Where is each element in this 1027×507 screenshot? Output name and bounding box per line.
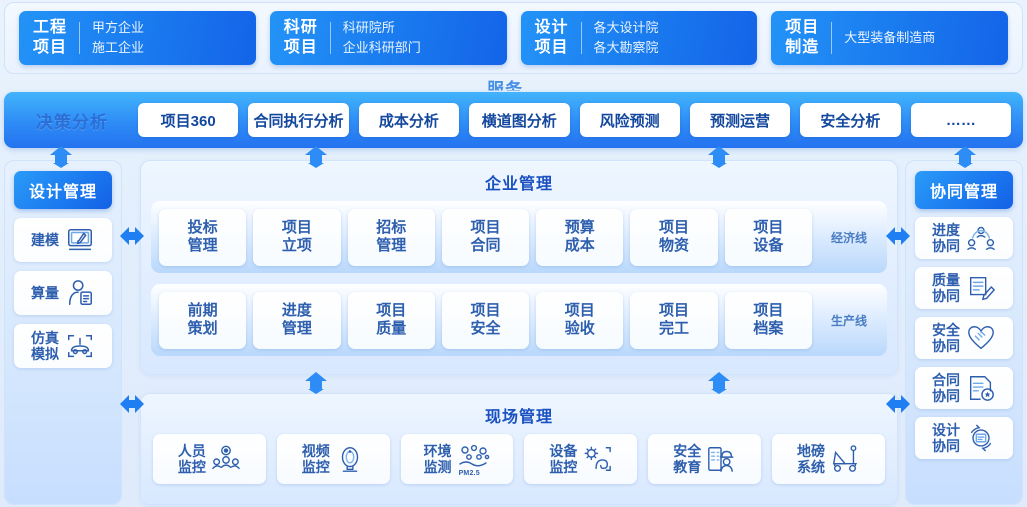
economic-line-tag: 经济线 — [819, 229, 879, 246]
economic-line-row: 投标 管理 项目 立项 招标 管理 项目 合同 预算 成本 项目 物资 项目 设… — [151, 201, 887, 273]
enterprise-cell-project-equipment[interactable]: 项目 设备 — [725, 209, 812, 266]
enterprise-cell-project-archive[interactable]: 项目 档案 — [725, 292, 812, 349]
enterprise-cell-bid-management[interactable]: 投标 管理 — [159, 209, 246, 266]
site-cell-video-monitor[interactable]: 视频 监控 — [277, 434, 390, 484]
design-collab-icon — [966, 423, 996, 453]
collab-item-safety[interactable]: 安全 协同 — [915, 317, 1013, 359]
enterprise-cell-progress-management[interactable]: 进度 管理 — [253, 292, 340, 349]
design-item-simulation[interactable]: 仿真 模拟 — [14, 324, 112, 368]
safety-education-icon — [706, 444, 736, 474]
collab-item-contract[interactable]: 合同 协同 — [915, 367, 1013, 409]
decision-button-safety-analysis[interactable]: 安全分析 — [800, 103, 900, 137]
collaboration-management-header[interactable]: 协同管理 — [915, 171, 1013, 209]
enterprise-cell-budget-cost[interactable]: 预算 成本 — [536, 209, 623, 266]
video-monitor-icon — [335, 444, 365, 474]
design-management-header[interactable]: 设计管理 — [14, 171, 112, 209]
divider — [79, 22, 80, 54]
site-cell-equipment-monitor[interactable]: 设备 监控 — [524, 434, 637, 484]
quality-collab-icon — [966, 273, 996, 303]
decision-button-cost-analysis[interactable]: 成本分析 — [359, 103, 459, 137]
collab-item-progress[interactable]: 进度 协同 — [915, 217, 1013, 259]
divider — [330, 22, 331, 54]
quantity-icon — [65, 278, 95, 308]
collab-item-label: 设计 协同 — [932, 422, 960, 454]
source-card-title: 科研 项目 — [284, 18, 330, 58]
arrow-down-enterprise-left — [303, 372, 329, 394]
decision-button-forecast-operation[interactable]: 预测运营 — [690, 103, 790, 137]
divider — [831, 22, 832, 54]
arrow-right-design-to-site — [120, 392, 144, 416]
people-monitor-icon — [211, 444, 241, 474]
progress-collab-icon — [966, 223, 996, 253]
design-item-label: 建模 — [31, 232, 59, 248]
site-cell-weighbridge[interactable]: 地磅 系统 — [772, 434, 885, 484]
enterprise-management-title: 企业管理 — [141, 161, 897, 201]
enterprise-cell-project-initiation[interactable]: 项目 立项 — [253, 209, 340, 266]
source-card-research[interactable]: 科研 项目 科研院所 企业科研部门 — [270, 11, 507, 65]
source-card-title: 项目 制造 — [785, 18, 831, 58]
collab-item-label: 进度 协同 — [932, 222, 960, 254]
simulation-icon — [65, 331, 95, 361]
enterprise-cell-pre-planning[interactable]: 前期 策划 — [159, 292, 246, 349]
enterprise-cell-tender-management[interactable]: 招标 管理 — [348, 209, 435, 266]
arrow-right-site-to-collab — [886, 392, 910, 416]
production-line-tag: 生产线 — [819, 312, 879, 329]
arrow-up-center-right — [706, 146, 732, 168]
safety-collab-icon — [966, 323, 996, 353]
decision-analysis-bar: 决策分析 项目360 合同执行分析 成本分析 横道图分析 风险预测 预测运营 安… — [4, 92, 1023, 148]
collab-item-label: 安全 协同 — [932, 322, 960, 354]
enterprise-cell-project-contract[interactable]: 项目 合同 — [442, 209, 529, 266]
design-item-quantity[interactable]: 算量 — [14, 271, 112, 315]
decision-button-project360[interactable]: 项目360 — [138, 103, 238, 137]
contract-collab-icon — [966, 373, 996, 403]
site-items-row: 人员 监控 视频 监控 — [153, 434, 885, 484]
source-card-subtitle: 科研院所 企业科研部门 — [343, 18, 421, 58]
site-management-panel: 现场管理 人员 监控 视频 监控 — [140, 393, 898, 505]
production-line-row: 前期 策划 进度 管理 项目 质量 项目 安全 项目 验收 项目 完工 项目 档… — [151, 284, 887, 356]
enterprise-cell-project-quality[interactable]: 项目 质量 — [348, 292, 435, 349]
arrow-right-design-to-enterprise — [120, 224, 144, 248]
design-item-modeling[interactable]: 建模 — [14, 218, 112, 262]
enterprise-cell-project-materials[interactable]: 项目 物资 — [630, 209, 717, 266]
equipment-monitor-icon — [582, 444, 612, 474]
arrow-right-enterprise-to-collab — [886, 224, 910, 248]
collab-item-design[interactable]: 设计 协同 — [915, 417, 1013, 459]
decision-button-gantt-analysis[interactable]: 横道图分析 — [469, 103, 569, 137]
site-cell-label: 安全 教育 — [673, 443, 701, 475]
enterprise-cell-project-completion[interactable]: 项目 完工 — [630, 292, 717, 349]
arrow-up-left — [48, 146, 74, 168]
divider — [581, 22, 582, 54]
site-cell-environment-monitor[interactable]: 环境 监测 PM2.5 — [401, 434, 514, 484]
source-card-title: 工程 项目 — [33, 18, 79, 58]
enterprise-management-panel: 企业管理 投标 管理 项目 立项 招标 管理 项目 合同 预算 成本 项目 物资… — [140, 160, 898, 375]
decision-analysis-label: 决策分析 — [16, 108, 128, 133]
site-cell-safety-education[interactable]: 安全 教育 — [648, 434, 761, 484]
site-cell-label: 地磅 系统 — [797, 443, 825, 475]
modeling-icon — [65, 225, 95, 255]
source-card-subtitle: 各大设计院 各大勘察院 — [594, 18, 659, 58]
site-cell-people-monitor[interactable]: 人员 监控 — [153, 434, 266, 484]
arrow-down-enterprise-right — [706, 372, 732, 394]
enterprise-cell-project-acceptance[interactable]: 项目 验收 — [536, 292, 623, 349]
center-column: 企业管理 投标 管理 项目 立项 招标 管理 项目 合同 预算 成本 项目 物资… — [140, 160, 898, 505]
enterprise-cell-project-safety[interactable]: 项目 安全 — [442, 292, 529, 349]
decision-button-more[interactable]: …… — [911, 103, 1011, 137]
source-card-engineering[interactable]: 工程 项目 甲方企业 施工企业 — [19, 11, 256, 65]
source-card-subtitle: 甲方企业 施工企业 — [92, 18, 144, 58]
site-cell-label: 视频 监控 — [302, 443, 330, 475]
site-management-title: 现场管理 — [141, 394, 897, 434]
arrow-up-right — [952, 146, 978, 168]
weighbridge-icon — [830, 444, 860, 474]
pm25-badge: PM2.5 — [459, 470, 480, 477]
design-item-label: 仿真 模拟 — [31, 330, 59, 362]
site-cell-label: 环境 监测 — [424, 443, 452, 475]
site-cell-label: 设备 监控 — [549, 443, 577, 475]
decision-button-contract-execution[interactable]: 合同执行分析 — [248, 103, 348, 137]
design-item-label: 算量 — [31, 285, 59, 301]
source-card-manufacturing[interactable]: 项目 制造 大型装备制造商 — [771, 11, 1008, 65]
environment-monitor-icon: PM2.5 — [457, 443, 491, 475]
site-cell-label: 人员 监控 — [178, 443, 206, 475]
collaboration-management-panel: 协同管理 进度 协同 质量 协同 安全 协同 — [905, 160, 1023, 505]
decision-button-risk-forecast[interactable]: 风险预测 — [580, 103, 680, 137]
source-cards-container: 工程 项目 甲方企业 施工企业 科研 项目 科研院所 企业科研部门 设计 项目 … — [4, 2, 1023, 74]
collab-item-label: 质量 协同 — [932, 272, 960, 304]
arrow-up-center-left — [303, 146, 329, 168]
source-card-design[interactable]: 设计 项目 各大设计院 各大勘察院 — [521, 11, 758, 65]
collab-item-quality[interactable]: 质量 协同 — [915, 267, 1013, 309]
design-management-panel: 设计管理 建模 算量 仿真 模拟 — [4, 160, 122, 505]
source-card-subtitle: 大型装备制造商 — [844, 27, 935, 49]
collab-item-label: 合同 协同 — [932, 372, 960, 404]
source-card-title: 设计 项目 — [535, 18, 581, 58]
